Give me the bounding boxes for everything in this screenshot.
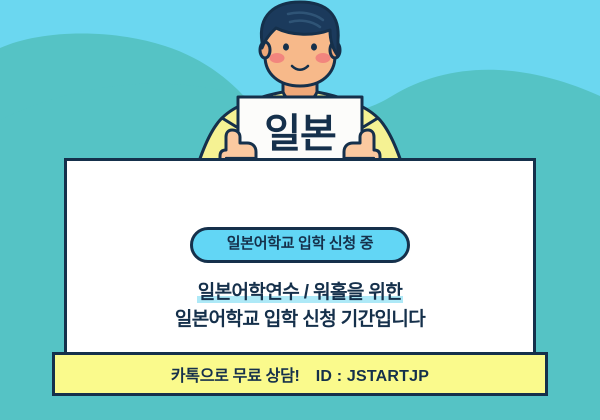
cta-bar: 카톡으로 무료 상담! ID : JSTARTJP: [52, 352, 548, 396]
cta-message: 카톡으로 무료 상담!: [171, 368, 300, 385]
eye-right: [311, 43, 317, 50]
headline-line-2: 일본어학교 입학 신청 기간입니다: [67, 306, 533, 334]
headline-line-1: 일본어학연수 / 워홀을 위한: [67, 279, 533, 307]
blush-right: [316, 53, 331, 63]
sign-text-line1: 일본: [264, 112, 336, 156]
badge-row: 일본어학교 입학 신청 중: [67, 227, 533, 263]
headline: 일본어학연수 / 워홀을 위한 일본어학교 입학 신청 기간입니다: [67, 279, 533, 334]
cta-kakao-id: ID : JSTARTJP: [316, 368, 429, 385]
cta-text: 카톡으로 무료 상담! ID : JSTARTJP: [171, 362, 429, 386]
headline-line-1-text: 일본어학연수 / 워홀을 위한: [197, 282, 403, 303]
panel-content: 일본어학교 입학 신청 중 일본어학연수 / 워홀을 위한 일본어학교 입학 신…: [67, 227, 533, 334]
content-panel: 일본어학교 입학 신청 중 일본어학연수 / 워홀을 위한 일본어학교 입학 신…: [64, 158, 536, 370]
status-badge: 일본어학교 입학 신청 중: [190, 227, 411, 263]
promo-banner: 일본 유학 일본어학교 입학 신청 중 일본어학연수 / 워홀을 위한 일본어학…: [0, 0, 600, 420]
eye-left: [283, 43, 289, 50]
blush-left: [270, 53, 285, 63]
